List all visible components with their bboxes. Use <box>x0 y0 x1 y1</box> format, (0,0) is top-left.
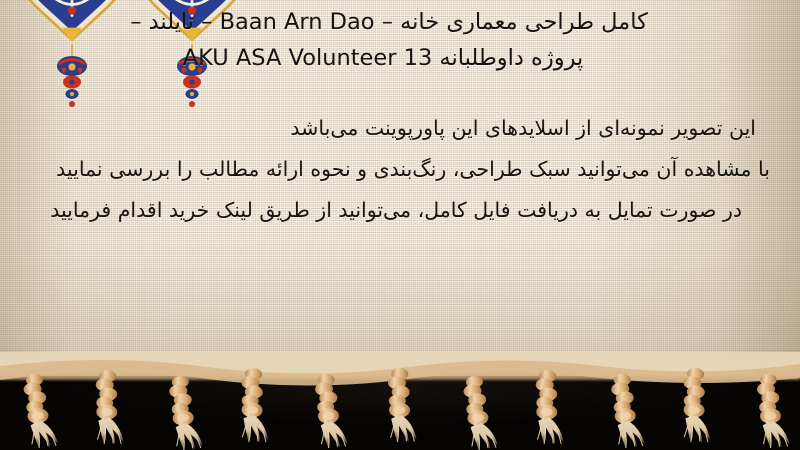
carpet-selvedge-band <box>0 358 800 380</box>
slide-body: این تصویر نمونه‌ای از اسلایدهای این پاور… <box>28 108 770 231</box>
presentation-slide: کامل طراحی معماری خانه – Baan Arn Dao – … <box>0 0 800 450</box>
black-backdrop <box>0 376 800 450</box>
body-line-1: این تصویر نمونه‌ای از اسلایدهای این پاور… <box>28 108 770 149</box>
body-line-3: در صورت تمایل به دریافت فایل کامل، می‌تو… <box>28 190 770 231</box>
body-line-2: با مشاهده آن می‌توانید سبک طراحی، رنگ‌بن… <box>28 149 770 190</box>
slide-title: کامل طراحی معماری خانه – Baan Arn Dao – … <box>16 4 772 76</box>
title-line-2: پروژه داوطلبانه AKU ASA Volunteer 13 <box>16 40 772 76</box>
title-line-1: کامل طراحی معماری خانه – Baan Arn Dao – … <box>16 4 772 40</box>
